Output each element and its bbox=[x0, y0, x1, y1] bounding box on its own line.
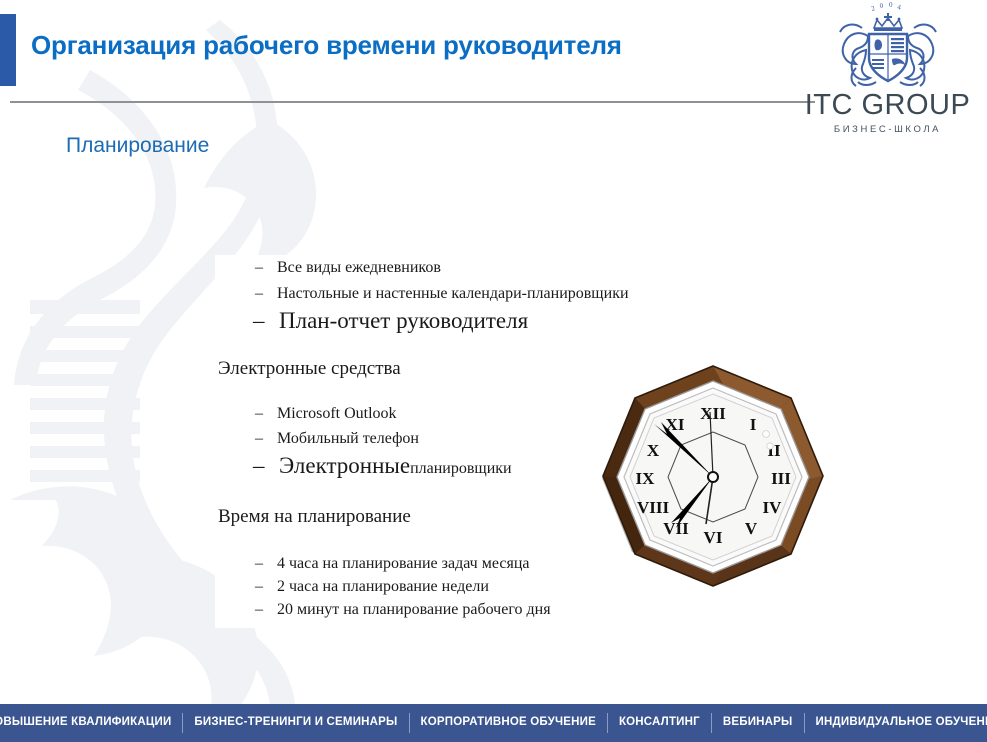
svg-text:X: X bbox=[647, 441, 660, 460]
svg-text:0: 0 bbox=[879, 2, 885, 10]
dash-bullet: – bbox=[255, 555, 277, 573]
svg-text:III: III bbox=[771, 469, 791, 488]
page-title: Организация рабочего времени руководител… bbox=[31, 30, 622, 61]
slide-subtitle: Планирование bbox=[66, 134, 209, 158]
list-item-label-emphasis: Электронные bbox=[279, 453, 410, 478]
list-item-label: Мобильный телефон bbox=[277, 430, 419, 447]
footer-item-biznes-treningi[interactable]: БИЗНЕС-ТРЕНИНГИ И СЕМИНАРЫ bbox=[183, 717, 408, 729]
list-item: –Настольные и настенные календари-планир… bbox=[255, 285, 629, 303]
svg-text:IV: IV bbox=[763, 498, 783, 517]
svg-text:V: V bbox=[745, 519, 758, 538]
logo-tagline: БИЗНЕС-ШКОЛА bbox=[800, 124, 975, 135]
dash-bullet: – bbox=[255, 430, 277, 448]
dash-bullet: – bbox=[255, 259, 277, 277]
dash-bullet: – bbox=[255, 578, 277, 596]
heraldic-crest-icon: 2 0 0 4 bbox=[832, 2, 944, 90]
list-item: –План-отчет руководителя bbox=[253, 308, 528, 334]
list-item: –Электронныепланировщики bbox=[253, 453, 512, 479]
logo-wordmark: ITC GROUP bbox=[800, 91, 975, 120]
list-item: –4 часа на планирование задач месяца bbox=[255, 555, 529, 573]
dash-bullet: – bbox=[253, 453, 279, 479]
list-item: –20 минут на планирование рабочего дня bbox=[255, 601, 551, 619]
dash-bullet: – bbox=[255, 285, 277, 303]
svg-text:I: I bbox=[750, 415, 757, 434]
svg-text:0: 0 bbox=[889, 2, 894, 9]
footer-item-vebinary[interactable]: ВЕБИНАРЫ bbox=[712, 717, 804, 729]
presentation-slide: Организация рабочего времени руководител… bbox=[0, 0, 987, 742]
clock-illustration: XII I II III IV V VI VII VIII IX X XI bbox=[588, 352, 838, 602]
svg-text:XII: XII bbox=[700, 404, 726, 423]
list-item-label: 20 минут на планирование рабочего дня bbox=[277, 601, 551, 618]
list-item-label: 2 часа на планирование недели bbox=[277, 578, 489, 595]
list-item-label: Все виды ежедневников bbox=[277, 259, 441, 276]
section-heading: Время на планирование bbox=[218, 506, 411, 528]
list-item: –Microsoft Outlook bbox=[255, 405, 397, 423]
dash-bullet: – bbox=[253, 308, 279, 334]
footer-item-konsalting[interactable]: КОНСАЛТИНГ bbox=[608, 717, 711, 729]
title-accent-bar bbox=[0, 14, 16, 86]
svg-text:VII: VII bbox=[663, 519, 689, 538]
list-item: –2 часа на планирование недели bbox=[255, 578, 489, 596]
svg-text:IX: IX bbox=[636, 469, 656, 488]
svg-text:VIII: VIII bbox=[637, 498, 670, 517]
footer-item-korporativnoe-obuchenie[interactable]: КОРПОРАТИВНОЕ ОБУЧЕНИЕ bbox=[410, 717, 607, 729]
header-divider bbox=[10, 101, 815, 103]
dash-bullet: – bbox=[255, 601, 277, 619]
list-item-label: Microsoft Outlook bbox=[277, 405, 397, 422]
footer-item-individualnoe-obuchenie[interactable]: ИНДИВИДУАЛЬНОЕ ОБУЧЕНИЕ bbox=[805, 717, 987, 729]
list-item-label: План-отчет руководителя bbox=[279, 308, 528, 333]
dash-bullet: – bbox=[255, 405, 277, 423]
footer-item-povyshenie-kvalifikacii[interactable]: ПОВЫШЕНИЕ КВАЛИФИКАЦИИ bbox=[0, 717, 182, 729]
section-heading: Электронные средства bbox=[218, 358, 401, 380]
company-logo[interactable]: 2 0 0 4 bbox=[800, 2, 975, 135]
footer-nav-bar: ПОВЫШЕНИЕ КВАЛИФИКАЦИИ БИЗНЕС-ТРЕНИНГИ И… bbox=[0, 704, 987, 742]
list-item-label: 4 часа на планирование задач месяца bbox=[277, 555, 529, 572]
list-item-label: Настольные и настенные календари-планиро… bbox=[277, 285, 629, 302]
list-item-label: планировщики bbox=[410, 460, 512, 477]
svg-text:4: 4 bbox=[896, 3, 902, 12]
list-item: –Все виды ежедневников bbox=[255, 259, 441, 277]
octagonal-wall-clock-icon: XII I II III IV V VI VII VIII IX X XI bbox=[588, 352, 838, 602]
list-item: –Мобильный телефон bbox=[255, 430, 419, 448]
svg-text:VI: VI bbox=[704, 528, 723, 547]
svg-text:2: 2 bbox=[870, 4, 877, 13]
